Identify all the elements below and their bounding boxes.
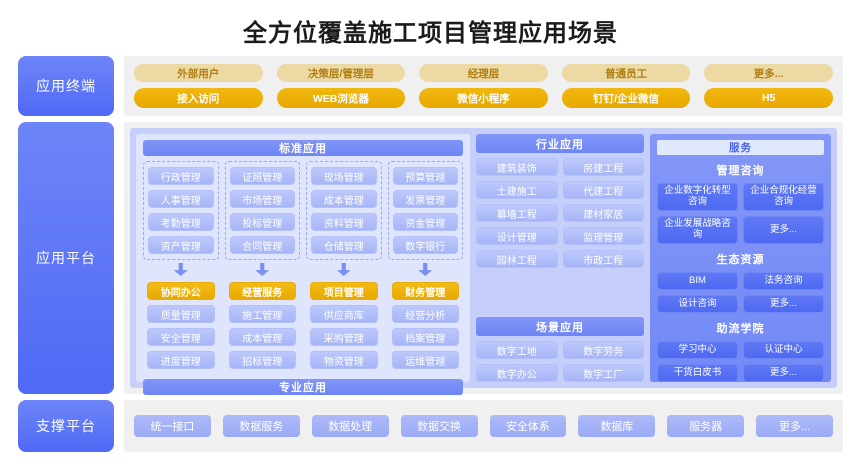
standard-apps-grid: 行政管理 人事管理 考勤管理 资产管理 证照管理 市场管理 投标管理 合同管理: [143, 161, 463, 260]
terminal-entry-chip[interactable]: H5: [704, 88, 833, 108]
page-title: 全方位覆盖施工项目管理应用场景: [0, 0, 861, 56]
standard-apps-group: 证照管理 市场管理 投标管理 合同管理: [225, 161, 301, 260]
industry-cell[interactable]: 监理管理: [563, 227, 645, 245]
support-chip[interactable]: 数据服务: [223, 415, 300, 437]
app-cell-primary[interactable]: 财务管理: [392, 282, 460, 300]
industry-cell[interactable]: 建筑装饰: [476, 158, 558, 176]
standard-apps-group: 现场管理 成本管理 资料管理 仓储管理: [306, 161, 382, 260]
terminal-entry-chip[interactable]: WEB浏览器: [277, 88, 406, 108]
platform-inner: 标准应用 行政管理 人事管理 考勤管理 资产管理 证照管理 市场管理 投标管理: [130, 128, 837, 388]
scenario-cell[interactable]: 数字工厂: [563, 364, 645, 382]
support-chip[interactable]: 数据交换: [401, 415, 478, 437]
service-cell[interactable]: BIM: [657, 272, 738, 290]
app-cell[interactable]: 合同管理: [230, 236, 296, 254]
industry-cell[interactable]: 土建施工: [476, 181, 558, 199]
app-cell[interactable]: 资料管理: [311, 213, 377, 231]
services-header: 服务: [657, 140, 824, 155]
service-cell[interactable]: 法务咨询: [743, 272, 824, 290]
terminal-role-chip: 决策层/管理层: [277, 64, 406, 82]
industry-cell[interactable]: 市政工程: [563, 250, 645, 268]
support-chip[interactable]: 服务器: [667, 415, 744, 437]
industry-grid: 建筑装饰 房建工程 土建施工 代建工程 幕墙工程 建材家居 设计管理 监理管理 …: [476, 158, 644, 268]
app-cell[interactable]: 数字银行: [393, 236, 459, 254]
scenario-grid: 数字工地 数字劳务 数字办公 数字工厂: [476, 341, 644, 382]
service-cell[interactable]: 学习中心: [657, 341, 738, 359]
app-cell[interactable]: 资金管理: [393, 213, 459, 231]
service-cell[interactable]: 更多...: [743, 364, 824, 382]
app-cell[interactable]: 安全管理: [147, 328, 215, 346]
terminal-band: 应用终端 外部用户 接入访问 决策层/管理层 WEB浏览器 经理层 微信小程序 …: [0, 56, 861, 116]
service-cell[interactable]: 更多...: [743, 295, 824, 313]
support-band-body: 统一接口 数据服务 数据处理 数据交换 安全体系 数据库 服务器 更多...: [124, 400, 843, 452]
support-chip[interactable]: 统一接口: [134, 415, 211, 437]
app-cell[interactable]: 现场管理: [311, 167, 377, 185]
app-cell[interactable]: 档案管理: [392, 328, 460, 346]
app-cell[interactable]: 资产管理: [148, 236, 214, 254]
app-cell-primary[interactable]: 经营服务: [229, 282, 297, 300]
arrow-slot: [388, 263, 464, 276]
support-chip[interactable]: 数据处理: [312, 415, 389, 437]
industry-panel: 行业应用 建筑装饰 房建工程 土建施工 代建工程 幕墙工程 建材家居 设计管理 …: [476, 134, 644, 268]
scenario-cell[interactable]: 数字劳务: [563, 341, 645, 359]
app-cell[interactable]: 仓储管理: [311, 236, 377, 254]
terminal-entry-chip[interactable]: 钉钉/企业微信: [562, 88, 691, 108]
applications-column: 标准应用 行政管理 人事管理 考勤管理 资产管理 证照管理 市场管理 投标管理: [136, 134, 470, 382]
industry-cell[interactable]: 园林工程: [476, 250, 558, 268]
industry-cell[interactable]: 房建工程: [563, 158, 645, 176]
app-cell[interactable]: 预算管理: [393, 167, 459, 185]
app-cell[interactable]: 招标管理: [229, 351, 297, 369]
terminal-role-chip: 普通员工: [562, 64, 691, 82]
professional-apps-group: 经营服务 施工管理 成本管理 招标管理: [225, 277, 301, 374]
industry-cell[interactable]: 建材家居: [563, 204, 645, 222]
flow-arrows: [143, 263, 463, 276]
app-cell[interactable]: 投标管理: [230, 213, 296, 231]
service-cell[interactable]: 认证中心: [743, 341, 824, 359]
arrow-slot: [306, 263, 382, 276]
arrow-down-icon: [418, 263, 432, 276]
scenario-header: 场景应用: [476, 317, 644, 336]
terminal-columns: 外部用户 接入访问 决策层/管理层 WEB浏览器 经理层 微信小程序 普通员工 …: [134, 64, 833, 108]
services-column: 服务 管理咨询 企业数字化转型咨询 企业合规化经营咨询 企业发展战略咨询 更多.…: [650, 134, 831, 382]
support-items-row: 统一接口 数据服务 数据处理 数据交换 安全体系 数据库 服务器 更多...: [134, 408, 833, 444]
scenario-panel: 场景应用 数字工地 数字劳务 数字办公 数字工厂: [476, 317, 644, 382]
professional-apps-grid: 协同办公 质量管理 安全管理 进度管理 经营服务 施工管理 成本管理 招标管理: [143, 277, 463, 374]
app-cell[interactable]: 进度管理: [147, 351, 215, 369]
terminal-column: 普通员工 钉钉/企业微信: [562, 64, 691, 108]
professional-apps-group: 协同办公 质量管理 安全管理 进度管理: [143, 277, 219, 374]
app-cell[interactable]: 质量管理: [147, 305, 215, 323]
services-group-title: 生态资源: [657, 248, 824, 268]
terminal-entry-chip[interactable]: 微信小程序: [419, 88, 548, 108]
standard-apps-header: 标准应用: [143, 140, 463, 156]
page-root: 全方位覆盖施工项目管理应用场景 应用终端 外部用户 接入访问 决策层/管理层 W…: [0, 0, 861, 464]
arrow-slot: [143, 263, 219, 276]
app-cell[interactable]: 供应商库: [310, 305, 378, 323]
arrow-down-icon: [337, 263, 351, 276]
terminal-column: 更多... H5: [704, 64, 833, 108]
services-group-title: 管理咨询: [657, 159, 824, 179]
service-cell[interactable]: 企业合规化经营咨询: [743, 183, 824, 211]
app-cell[interactable]: 成本管理: [229, 328, 297, 346]
support-chip[interactable]: 更多...: [756, 415, 833, 437]
standard-apps-group: 行政管理 人事管理 考勤管理 资产管理: [143, 161, 219, 260]
standard-apps-group: 预算管理 发票管理 资金管理 数字银行: [388, 161, 464, 260]
platform-band: 应用平台 标准应用 行政管理 人事管理 考勤管理 资产管理 证照管理: [0, 122, 861, 394]
services-group-title: 助流学院: [657, 317, 824, 337]
terminal-role-chip: 外部用户: [134, 64, 263, 82]
service-cell[interactable]: 设计咨询: [657, 295, 738, 313]
support-chip[interactable]: 安全体系: [490, 415, 567, 437]
band-label-terminal: 应用终端: [18, 56, 114, 116]
arrow-down-icon: [174, 263, 188, 276]
app-cell[interactable]: 行政管理: [148, 167, 214, 185]
industry-cell[interactable]: 幕墙工程: [476, 204, 558, 222]
services-group-grid: BIM 法务咨询 设计咨询 更多...: [657, 272, 824, 313]
app-cell[interactable]: 经营分析: [392, 305, 460, 323]
scenario-cell[interactable]: 数字办公: [476, 364, 558, 382]
app-cell[interactable]: 物资管理: [310, 351, 378, 369]
service-cell[interactable]: 企业发展战略咨询: [657, 216, 738, 244]
platform-band-body: 标准应用 行政管理 人事管理 考勤管理 资产管理 证照管理 市场管理 投标管理: [124, 122, 843, 394]
app-cell[interactable]: 采购管理: [310, 328, 378, 346]
arrow-down-icon: [255, 263, 269, 276]
app-cell[interactable]: 发票管理: [393, 190, 459, 208]
professional-apps-group: 财务管理 经营分析 档案管理 运维管理: [388, 277, 464, 374]
app-cell[interactable]: 成本管理: [311, 190, 377, 208]
industry-cell[interactable]: 代建工程: [563, 181, 645, 199]
terminal-column: 外部用户 接入访问: [134, 64, 263, 108]
industry-scenario-column: 行业应用 建筑装饰 房建工程 土建施工 代建工程 幕墙工程 建材家居 设计管理 …: [476, 134, 644, 382]
industry-header: 行业应用: [476, 134, 644, 153]
professional-apps-group: 项目管理 供应商库 采购管理 物资管理: [306, 277, 382, 374]
terminal-column: 经理层 微信小程序: [419, 64, 548, 108]
services-group-grid: 学习中心 认证中心 干货白皮书 更多...: [657, 341, 824, 382]
band-label-platform: 应用平台: [18, 122, 114, 394]
services-group-grid: 企业数字化转型咨询 企业合规化经营咨询 企业发展战略咨询 更多...: [657, 183, 824, 244]
service-cell[interactable]: 企业数字化转型咨询: [657, 183, 738, 211]
terminal-column: 决策层/管理层 WEB浏览器: [277, 64, 406, 108]
service-cell[interactable]: 干货白皮书: [657, 364, 738, 382]
professional-apps-header: 专业应用: [143, 379, 463, 395]
app-cell[interactable]: 证照管理: [230, 167, 296, 185]
band-label-support: 支撑平台: [18, 400, 114, 452]
scenario-cell[interactable]: 数字工地: [476, 341, 558, 359]
app-cell[interactable]: 运维管理: [392, 351, 460, 369]
industry-cell[interactable]: 设计管理: [476, 227, 558, 245]
support-chip[interactable]: 数据库: [578, 415, 655, 437]
service-cell[interactable]: 更多...: [743, 216, 824, 244]
app-cell[interactable]: 施工管理: [229, 305, 297, 323]
terminal-role-chip: 更多...: [704, 64, 833, 82]
app-cell[interactable]: 考勤管理: [148, 213, 214, 231]
app-cell[interactable]: 人事管理: [148, 190, 214, 208]
arrow-slot: [225, 263, 301, 276]
support-band: 支撑平台 统一接口 数据服务 数据处理 数据交换 安全体系 数据库 服务器 更多…: [0, 400, 861, 452]
terminal-role-chip: 经理层: [419, 64, 548, 82]
app-cell-primary[interactable]: 协同办公: [147, 282, 215, 300]
app-cell[interactable]: 市场管理: [230, 190, 296, 208]
app-cell-primary[interactable]: 项目管理: [310, 282, 378, 300]
terminal-entry-chip[interactable]: 接入访问: [134, 88, 263, 108]
terminal-band-body: 外部用户 接入访问 决策层/管理层 WEB浏览器 经理层 微信小程序 普通员工 …: [124, 56, 843, 116]
